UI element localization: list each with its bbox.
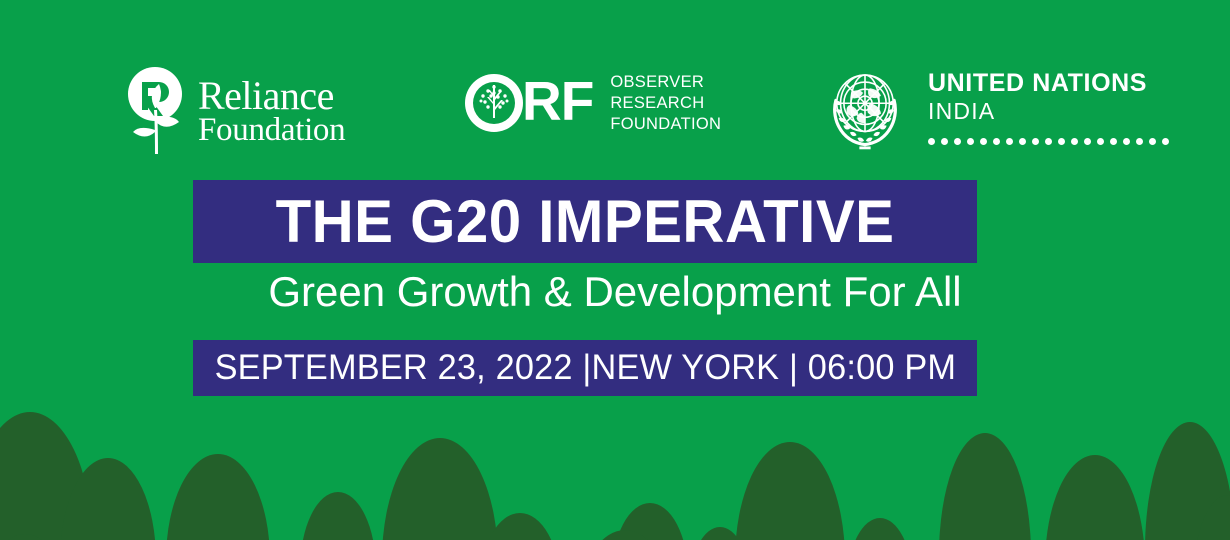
un-dot	[980, 138, 987, 145]
orf-mark-letters: RF	[522, 74, 593, 129]
un-dot	[928, 138, 935, 145]
reliance-wordmark-line2: Foundation	[198, 115, 345, 147]
un-dot	[1110, 138, 1117, 145]
un-dot	[1097, 138, 1104, 145]
un-dot	[1006, 138, 1013, 145]
un-wordmark-line2: INDIA	[928, 98, 1169, 126]
logo-united-nations-india: UNITED NATIONS INDIA	[818, 60, 1169, 154]
un-dot	[967, 138, 974, 145]
leaf-blob	[848, 518, 912, 540]
leaf-blob	[300, 492, 376, 540]
un-wordmark-line1: UNITED NATIONS	[928, 69, 1169, 98]
leaf-blob	[735, 442, 845, 540]
un-dot	[1058, 138, 1065, 145]
event-banner: Reliance Foundation RF	[0, 0, 1230, 540]
leaf-blob	[939, 433, 1031, 540]
leaf-blob	[166, 454, 270, 540]
event-title: THE G20 IMPERATIVE	[276, 187, 895, 256]
un-dot	[1032, 138, 1039, 145]
orf-tree-in-circle-icon	[463, 72, 525, 134]
un-dot	[1071, 138, 1078, 145]
logo-observer-research-foundation: RF OBSERVER RESEARCH FOUNDATION	[463, 72, 721, 135]
reliance-wordmark-line1: Reliance	[198, 77, 345, 115]
un-dot	[1136, 138, 1143, 145]
logo-reliance-foundation: Reliance Foundation	[122, 66, 345, 158]
orf-wordmark-line1: OBSERVER	[610, 72, 721, 93]
orf-wordmark-line3: FOUNDATION	[610, 114, 721, 135]
un-dot	[941, 138, 948, 145]
event-details-band: SEPTEMBER 23, 2022 |NEW YORK | 06:00 PM	[193, 340, 977, 396]
event-subtitle: Green Growth & Development For All	[0, 268, 1230, 316]
orf-wordmark-line2: RESEARCH	[610, 93, 721, 114]
event-details: SEPTEMBER 23, 2022 |NEW YORK | 06:00 PM	[214, 348, 956, 388]
un-dot	[1162, 138, 1169, 145]
reliance-r-circle-plant-icon	[122, 66, 188, 158]
un-dot	[993, 138, 1000, 145]
un-dot	[1149, 138, 1156, 145]
leaf-blob	[1045, 455, 1145, 540]
partner-logo-row: Reliance Foundation RF	[0, 58, 1230, 168]
un-dot	[1019, 138, 1026, 145]
un-emblem-globe-olive-branches-icon	[818, 60, 912, 154]
leaf-blob	[382, 438, 498, 540]
un-dot-row	[928, 138, 1169, 145]
un-dot	[1123, 138, 1130, 145]
un-dot	[1045, 138, 1052, 145]
un-dot	[1084, 138, 1091, 145]
event-title-band: THE G20 IMPERATIVE	[193, 180, 977, 263]
un-dot	[954, 138, 961, 145]
